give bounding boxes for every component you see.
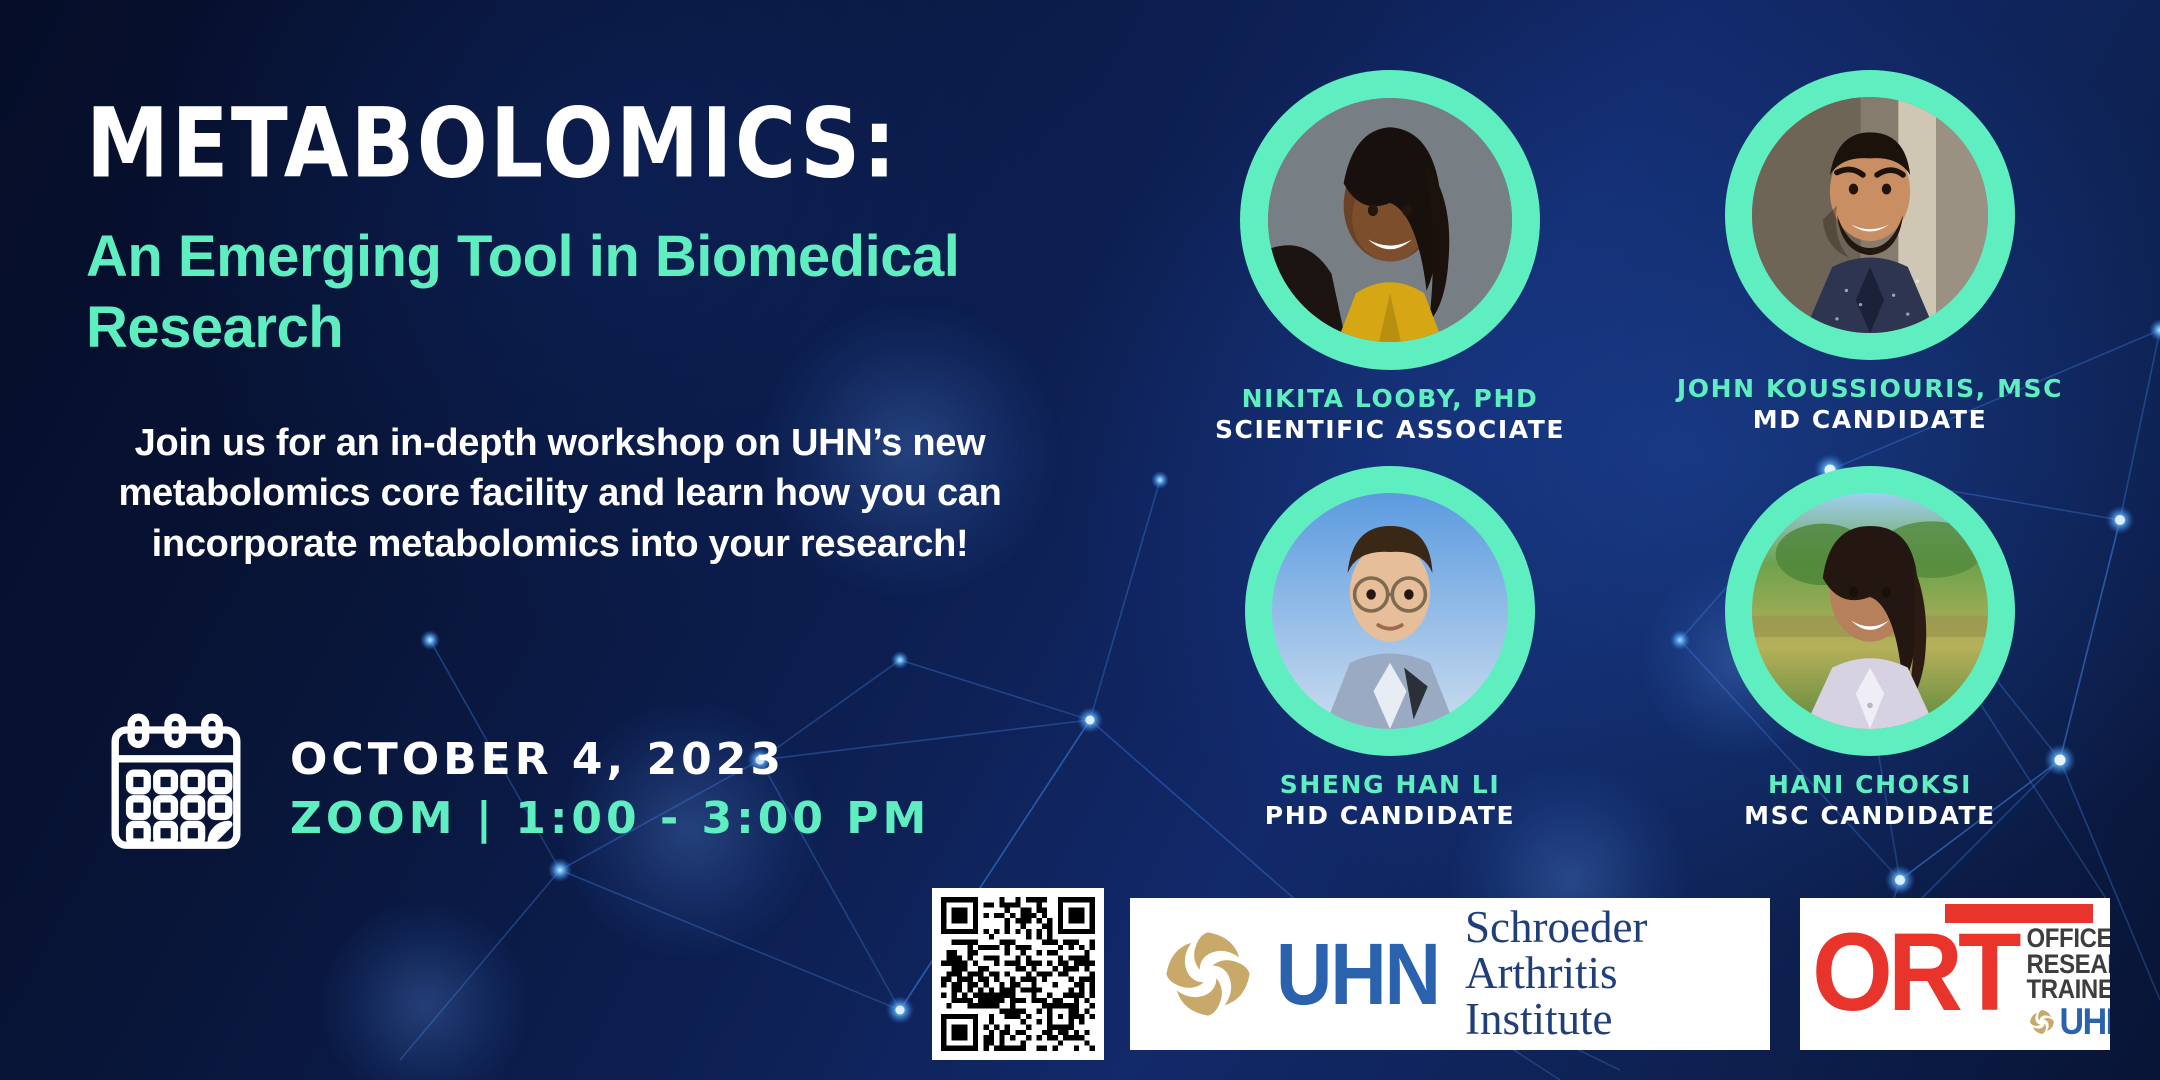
avatar-ring [1245, 466, 1535, 756]
ort-uhn-lockup: UHN [2027, 1005, 2110, 1039]
ort-uhn-wordmark: UHN [2060, 1003, 2110, 1040]
ort-t-crossbar [1945, 904, 2093, 923]
speaker-card-nikita-looby: NIKITA LOOBY, PHD SCIENTIFIC ASSOCIATE [1150, 70, 1630, 444]
speaker-card-john-koussiouris: JOHN KOUSSIOURIS, MSC MD CANDIDATE [1630, 70, 2110, 444]
avatar-ring [1725, 70, 2015, 360]
speaker-card-sheng-han-li: SHENG HAN LI PHD CANDIDATE [1150, 466, 1630, 830]
speaker-name: NIKITA LOOBY, PHD [1242, 384, 1539, 413]
uhn-wordmark: UHN [1276, 930, 1439, 1017]
avatar-ring [1240, 70, 1540, 370]
speaker-role: MD CANDIDATE [1753, 405, 1988, 434]
event-date: OCTOBER 4, 2023 [290, 731, 930, 790]
avatar [1268, 98, 1512, 342]
uhn-pinwheel-icon [1156, 922, 1260, 1026]
qr-code-image [941, 897, 1095, 1051]
event-date-time: OCTOBER 4, 2023 ZOOM | 1:00 - 3:00 PM [290, 723, 930, 849]
speaker-name: JOHN KOUSSIOURIS, MSC [1677, 374, 2063, 403]
description-text: Join us for an in-depth workshop on UHN’… [100, 418, 1020, 570]
avatar-ring [1725, 466, 2015, 756]
speaker-grid: NIKITA LOOBY, PHD SCIENTIFIC ASSOCIATE [1150, 70, 2110, 830]
qr-code[interactable] [932, 888, 1104, 1060]
page-title: METABOLOMICS: [86, 96, 1134, 192]
uhn-schroeder-logo: UHN Schroeder Arthritis Institute [1130, 898, 1770, 1050]
page-subtitle: An Emerging Tool in Biomedical Research [86, 222, 1106, 364]
avatar [1752, 97, 1988, 333]
uhn-pinwheel-icon [2027, 1007, 2057, 1037]
avatar [1272, 493, 1508, 729]
uhn-institute-line2: Arthritis Institute [1465, 951, 1750, 1043]
uhn-institute-name: Schroeder Arthritis Institute [1465, 905, 1750, 1043]
calendar-icon [96, 706, 256, 866]
speaker-role: PHD CANDIDATE [1265, 801, 1515, 830]
speaker-role: SCIENTIFIC ASSOCIATE [1215, 415, 1565, 444]
ort-line3: TRAINEES [2027, 976, 2110, 1004]
uhn-institute-line1: Schroeder [1465, 905, 1750, 951]
event-platform-time: ZOOM | 1:00 - 3:00 PM [290, 790, 930, 849]
speaker-name: SHENG HAN LI [1280, 770, 1500, 799]
speaker-role: MSC CANDIDATE [1744, 801, 1996, 830]
event-details: OCTOBER 4, 2023 ZOOM | 1:00 - 3:00 PM [96, 706, 930, 866]
ort-expansion: OFFICE OF RESEARCH TRAINEES UHN [2027, 909, 2110, 1038]
speaker-card-hani-choksi: HANI CHOKSI MSC CANDIDATE [1630, 466, 2110, 830]
speaker-row-bottom: SHENG HAN LI PHD CANDIDATE [1150, 466, 2110, 830]
ort-wordmark: ORT [1812, 927, 2017, 1022]
poster-text-column: METABOLOMICS: An Emerging Tool in Biomed… [86, 96, 1166, 569]
ort-logo: ORT OFFICE OF RESEARCH TRAINEES UHN [1800, 898, 2110, 1050]
avatar [1752, 493, 1988, 729]
event-poster: METABOLOMICS: An Emerging Tool in Biomed… [0, 0, 2160, 1080]
speaker-name: HANI CHOKSI [1768, 770, 1972, 799]
speaker-row-top: NIKITA LOOBY, PHD SCIENTIFIC ASSOCIATE [1150, 70, 2110, 444]
